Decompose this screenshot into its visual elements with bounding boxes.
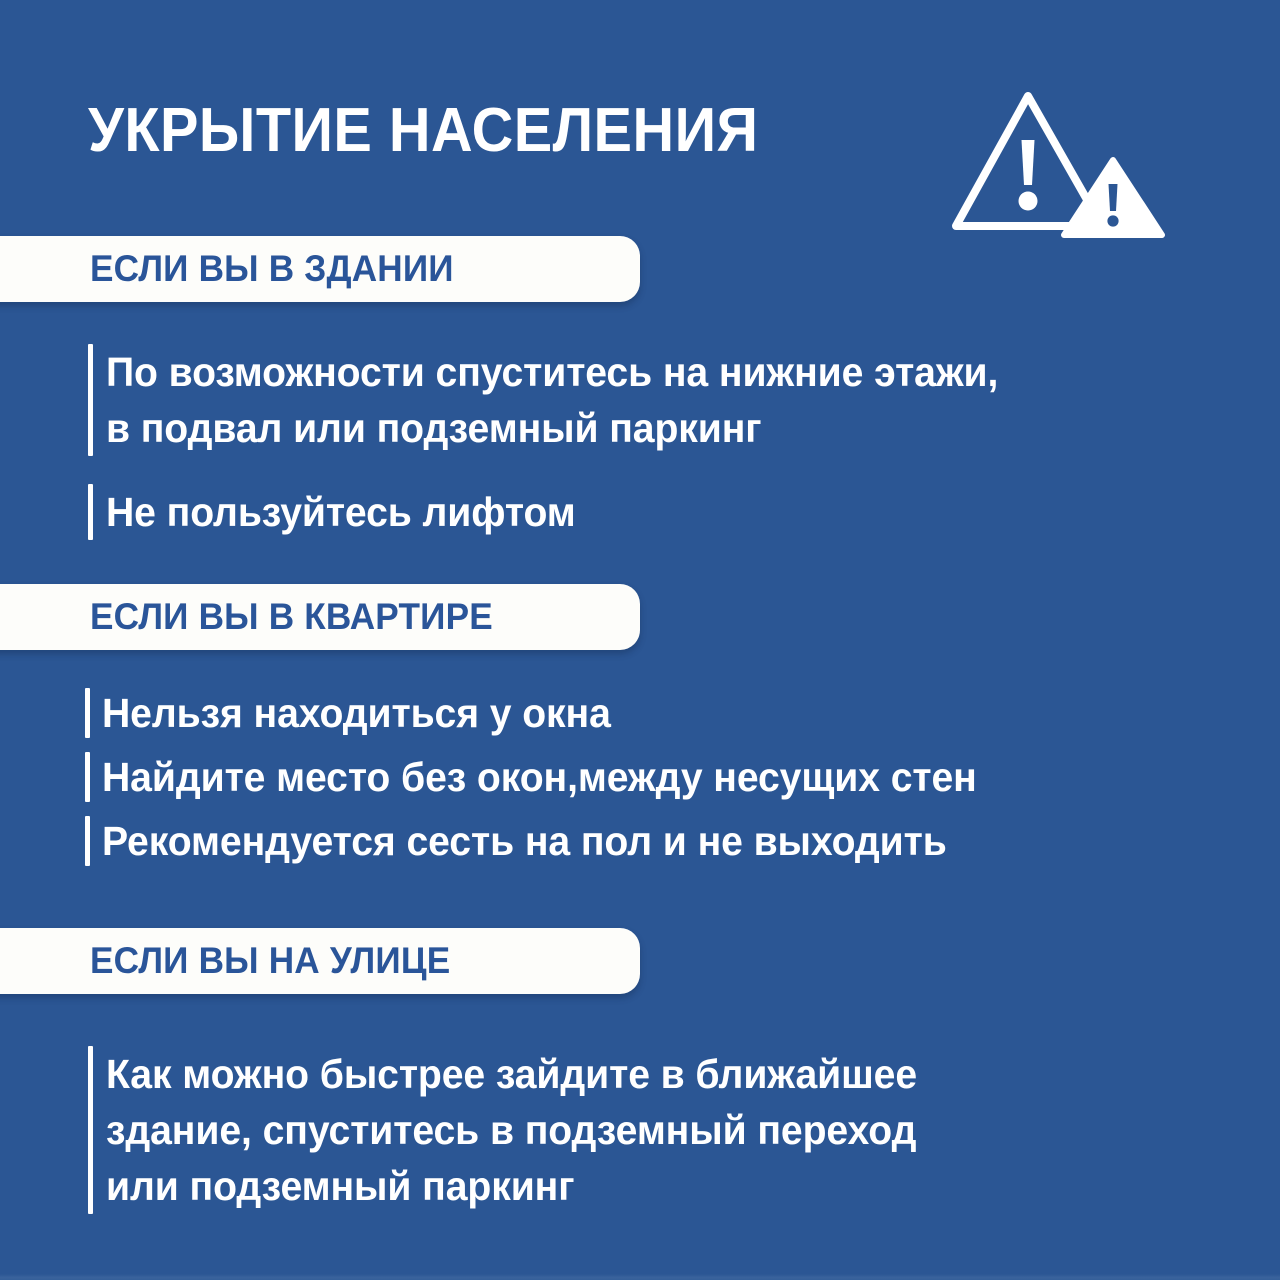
bullet-item: Как можно быстрее зайдите в ближайшее зд… bbox=[88, 1046, 1138, 1214]
bullet-text: Найдите место без окон,между несущих сте… bbox=[102, 752, 977, 802]
warning-triangles-icon bbox=[950, 82, 1170, 242]
bullet-item: По возможности спуститесь на нижние этаж… bbox=[88, 344, 1218, 456]
bullet-item: Не пользуйтесь лифтом bbox=[88, 484, 908, 540]
bullet-item: Рекомендуется сесть на пол и не выходить bbox=[85, 816, 1165, 866]
bullet-bar bbox=[88, 1046, 93, 1214]
bullet-item: Нельзя находиться у окна bbox=[85, 688, 985, 738]
bullet-bar bbox=[85, 816, 90, 866]
bullet-bar bbox=[85, 688, 90, 738]
bullet-bar bbox=[85, 752, 90, 802]
bullet-text: Нельзя находиться у окна bbox=[102, 688, 611, 738]
bullet-text: Рекомендуется сесть на пол и не выходить bbox=[102, 816, 947, 866]
bullet-text: Не пользуйтесь лифтом bbox=[106, 484, 576, 540]
section-heading-street: ЕСЛИ ВЫ НА УЛИЦЕ bbox=[0, 928, 640, 994]
poster-root: УКРЫТИЕ НАСЕЛЕНИЯ ЕСЛИ ВЫ В ЗДАНИИ По во… bbox=[0, 0, 1280, 1280]
bottom-edge-strip bbox=[0, 1274, 1280, 1280]
section-heading-building: ЕСЛИ ВЫ В ЗДАНИИ bbox=[0, 236, 640, 302]
section-heading-label: ЕСЛИ ВЫ НА УЛИЦЕ bbox=[90, 941, 450, 981]
bullet-text: Как можно быстрее зайдите в ближайшее зд… bbox=[106, 1046, 917, 1214]
section-heading-apartment: ЕСЛИ ВЫ В КВАРТИРЕ bbox=[0, 584, 640, 650]
bullet-bar bbox=[88, 344, 93, 456]
poster-header: УКРЫТИЕ НАСЕЛЕНИЯ bbox=[0, 96, 1280, 236]
page-title: УКРЫТИЕ НАСЕЛЕНИЯ bbox=[88, 96, 758, 166]
section-heading-label: ЕСЛИ ВЫ В КВАРТИРЕ bbox=[90, 597, 493, 637]
bullet-bar bbox=[88, 484, 93, 540]
bullet-text: По возможности спуститесь на нижние этаж… bbox=[106, 344, 998, 456]
section-heading-label: ЕСЛИ ВЫ В ЗДАНИИ bbox=[90, 249, 454, 289]
bullet-item: Найдите место без окон,между несущих сте… bbox=[85, 752, 1205, 802]
